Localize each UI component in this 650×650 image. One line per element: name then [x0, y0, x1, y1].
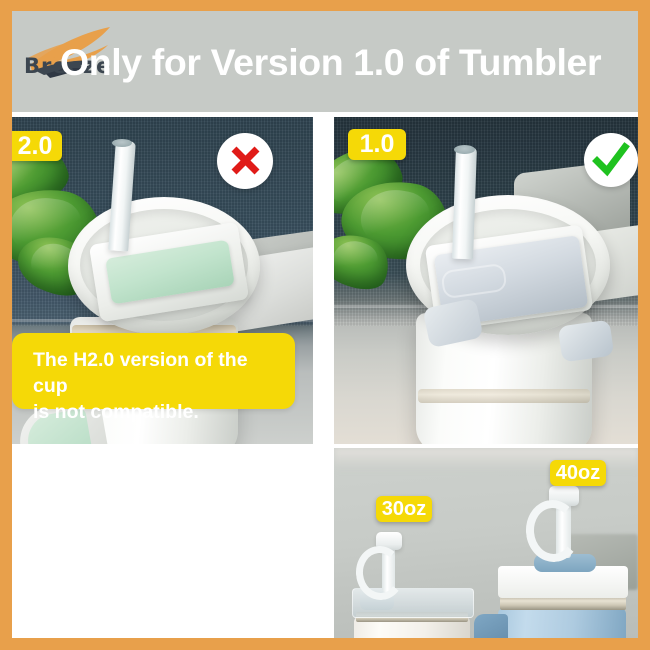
- callout-text: The H2.0 version of the cup is not compa…: [33, 347, 283, 425]
- version-badge-1-0: 1.0: [348, 129, 406, 160]
- callout-line-1: The H2.0 version of the cup: [33, 347, 283, 399]
- straw: [452, 147, 477, 260]
- size-badge-30oz: 30oz: [376, 496, 432, 522]
- tumbler-40oz-steel-band: [500, 596, 626, 610]
- size-badge-40oz: 40oz: [550, 460, 606, 486]
- slider-tab-right: [558, 320, 615, 363]
- photo-panel-version-1: 1.0: [334, 117, 638, 444]
- callout-line-2: is not compatible.: [33, 399, 283, 425]
- header-banner: Breeze Only for Version 1.0 of Tumbler: [12, 11, 638, 112]
- check-icon: [584, 133, 638, 187]
- cross-icon: [217, 133, 273, 189]
- page-title: Only for Version 1.0 of Tumbler: [60, 29, 638, 95]
- photo-panel-sizes: 30oz 40oz: [334, 448, 638, 638]
- orange-frame: Breeze Only for Version 1.0 of Tumbler: [0, 0, 650, 650]
- tumbler-band: [418, 389, 590, 403]
- straw-opening: [112, 139, 132, 147]
- version-badge-2-0: 2.0: [12, 131, 62, 161]
- tumbler-40oz-handle: [474, 614, 508, 638]
- straw-opening: [454, 145, 475, 154]
- incompatibility-callout: The H2.0 version of the cup is not compa…: [12, 333, 295, 409]
- tumbler-40oz-body: [498, 608, 626, 638]
- content-area: Breeze Only for Version 1.0 of Tumbler: [12, 11, 638, 638]
